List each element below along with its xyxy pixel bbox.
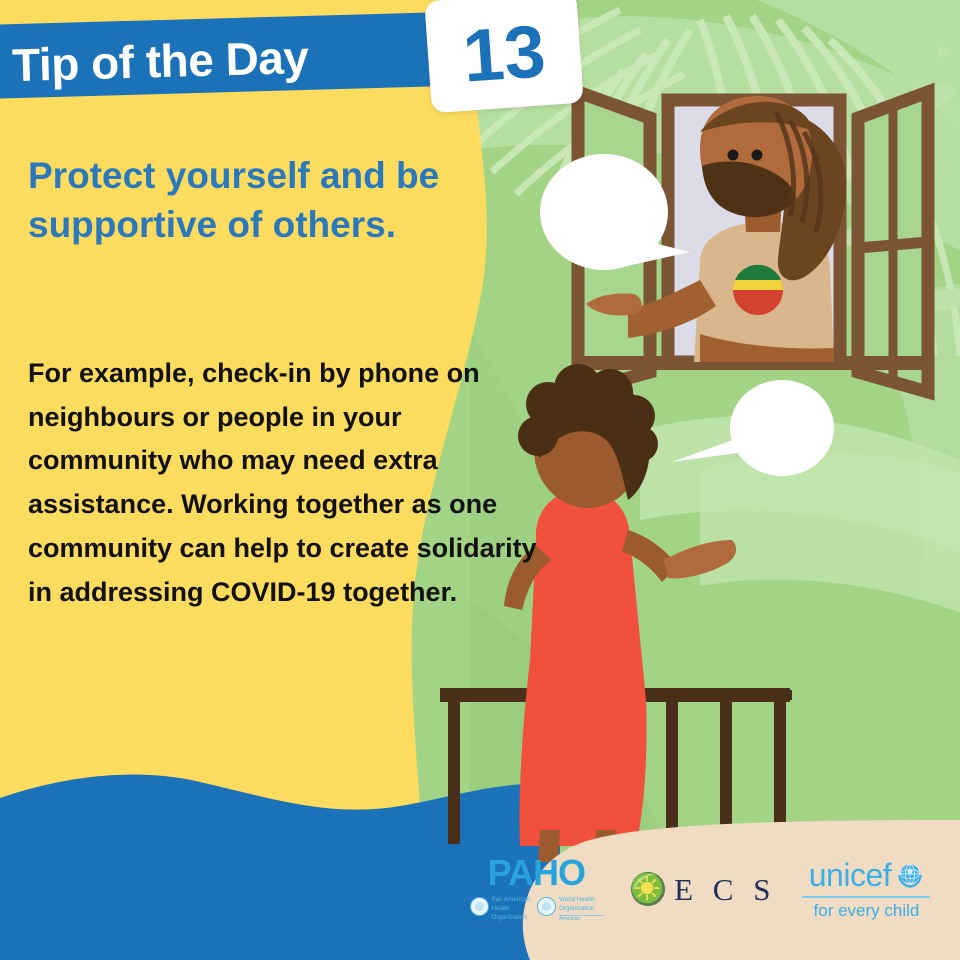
paho-logo: PAHO Pan American Health Organization Wo… — [470, 855, 604, 922]
unicef-divider — [802, 896, 930, 898]
ecs-sun-icon — [629, 870, 667, 908]
world-health-organization-mark: World Health Organization Americas — [537, 896, 603, 922]
pan-american-health-organization-mark: Pan American Health Organization — [470, 896, 531, 922]
who-emblem-icon — [537, 897, 556, 916]
unicef-emblem-icon — [896, 861, 924, 889]
paho-sub-line: Pan American — [492, 896, 531, 905]
who-sub-line: Organization — [559, 905, 603, 914]
unicef-logo: unicef for every child — [802, 859, 930, 919]
tip-of-the-day-poster: Tip of the Day 13 Protect yourself and b… — [0, 0, 960, 960]
tip-banner: Tip of the Day — [0, 11, 479, 99]
day-number: 13 — [461, 14, 548, 94]
logo-bar: PAHO Pan American Health Organization Wo… — [440, 832, 960, 960]
banner-title: Tip of the Day — [11, 30, 309, 92]
paho-sub-line: Health — [492, 905, 531, 914]
body-text: For example, check-in by phone on neighb… — [28, 352, 548, 614]
paho-sub-line: Organization — [492, 914, 531, 923]
page-title: Protect yourself and be supportive of ot… — [28, 152, 458, 250]
who-americas-label: Americas — [559, 916, 603, 923]
unicef-tagline: for every child — [814, 902, 920, 919]
ecs-wordmark: E C S — [674, 874, 776, 905]
who-sub-line: World Health — [559, 896, 603, 905]
paho-wordmark: PAHO — [488, 855, 585, 891]
ecs-logo: E C S — [629, 870, 776, 908]
shirt-emblem — [733, 265, 783, 315]
unicef-wordmark: unicef — [809, 859, 891, 891]
day-number-badge: 13 — [424, 0, 583, 113]
speech-bubble-woman — [672, 380, 834, 476]
paho-globe-icon — [470, 897, 489, 916]
